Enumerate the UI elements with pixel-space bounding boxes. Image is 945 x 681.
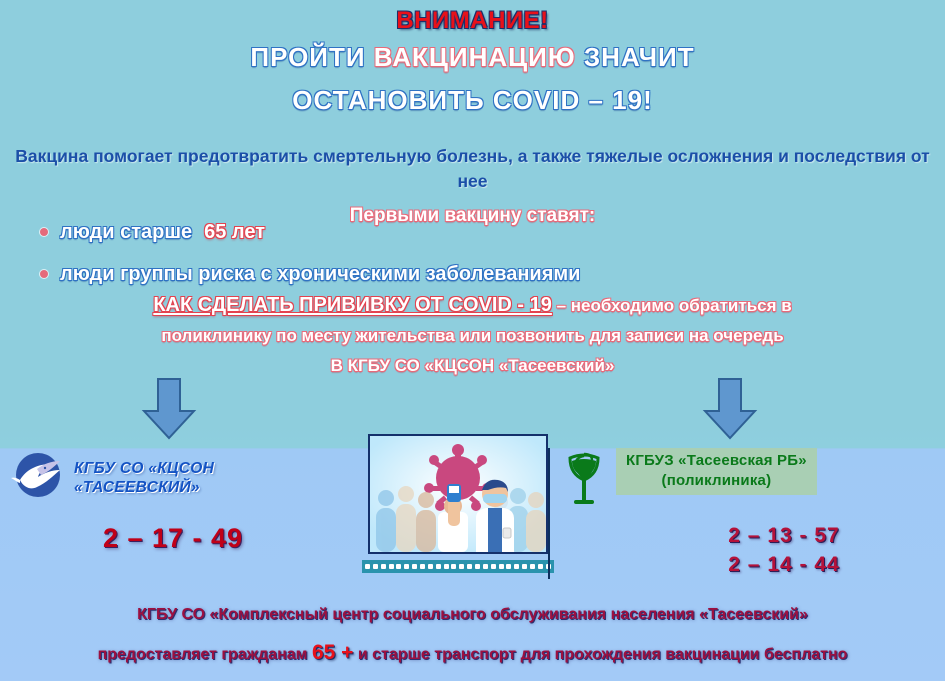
kcson-header: КГБУ СО «КЦСОН «ТАСЕЕВСКИЙ»: [8, 452, 338, 503]
howto-line2: поликлинику по месту жительства или позв…: [161, 326, 783, 345]
headline-line2-highlight: ВАКЦИНАЦИЮ: [374, 42, 576, 72]
vaccination-illustration: [368, 434, 548, 554]
polyclinic-phone-2: 2 – 14 - 44: [628, 550, 940, 579]
bullet-dot-icon: [40, 270, 48, 278]
down-arrow-icon: [141, 378, 197, 440]
polyclinic-name: КГБУЗ «Тасеевская РБ» (поликлиника): [616, 448, 817, 495]
polyclinic-contact-block: КГБУЗ «Тасеевская РБ» (поликлиника) 2 – …: [548, 448, 940, 579]
list-item: люди группы риска с хроническими заболев…: [40, 261, 580, 287]
footer-line2-before: предоставляет гражданам: [98, 646, 308, 663]
polyclinic-phone-1: 2 – 13 - 57: [628, 521, 940, 550]
footer-line2-after: и старше транспорт для прохождения вакци…: [358, 646, 848, 663]
footer-line-2: предоставляет гражданам 65 + и старше тр…: [10, 641, 935, 665]
howto-emphasis: КАК СДЕЛАТЬ ПРИВИВКУ ОТ COVID - 19: [153, 294, 552, 316]
headline-line-2: ПРОЙТИ ВАКЦИНАЦИЮ ЗНАЧИТ: [0, 36, 945, 78]
lead-paragraph: Вакцина помогает предотвратить смертельн…: [8, 144, 937, 194]
list-item-label: люди старше: [60, 219, 192, 245]
howto-block: КАК СДЕЛАТЬ ПРИВИВКУ ОТ COVID - 19 – нео…: [14, 290, 931, 381]
howto-line3: В КГБУ СО «КЦСОН «Тасеевский»: [331, 356, 615, 375]
kcson-contact-block: КГБУ СО «КЦСОН «ТАСЕЕВСКИЙ» 2 – 17 - 49: [8, 452, 338, 554]
headline-line-3: ОСТАНОВИТЬ COVID – 19!: [0, 78, 945, 122]
headline-line2-part1: ПРОЙТИ: [250, 42, 365, 72]
down-arrow-icon: [702, 378, 758, 440]
polyclinic-header: КГБУЗ «Тасеевская РБ» (поликлиника): [558, 448, 940, 513]
kcson-name: КГБУ СО «КЦСОН «ТАСЕЕВСКИЙ»: [74, 459, 214, 497]
polyclinic-phones: 2 – 13 - 57 2 – 14 - 44: [558, 521, 940, 579]
headline-line2-part2: ЗНАЧИТ: [584, 42, 695, 72]
headline-block: ВНИМАНИЕ! ПРОЙТИ ВАКЦИНАЦИЮ ЗНАЧИТ ОСТАН…: [0, 6, 945, 122]
list-item: люди старше 65 лет: [40, 219, 580, 245]
bowl-of-hygieia-icon: [558, 448, 610, 513]
kcson-phone: 2 – 17 - 49: [8, 523, 338, 554]
dove-logo-icon: [8, 452, 68, 503]
headline-attention: ВНИМАНИЕ!: [0, 6, 945, 36]
list-item-highlight: 65 лет: [204, 219, 265, 245]
footer-line-1: КГБУ СО «Комплексный центр социального о…: [10, 606, 935, 624]
howto-rest-line1: – необходимо обратиться в: [557, 296, 792, 315]
poster-canvas: ВНИМАНИЕ! ПРОЙТИ ВАКЦИНАЦИЮ ЗНАЧИТ ОСТАН…: [0, 0, 945, 681]
list-item-label: люди группы риска с хроническими заболев…: [60, 261, 580, 287]
age-badge: 65 +: [312, 641, 353, 664]
bullet-dot-icon: [40, 228, 48, 236]
film-strip-decoration: [362, 560, 554, 573]
